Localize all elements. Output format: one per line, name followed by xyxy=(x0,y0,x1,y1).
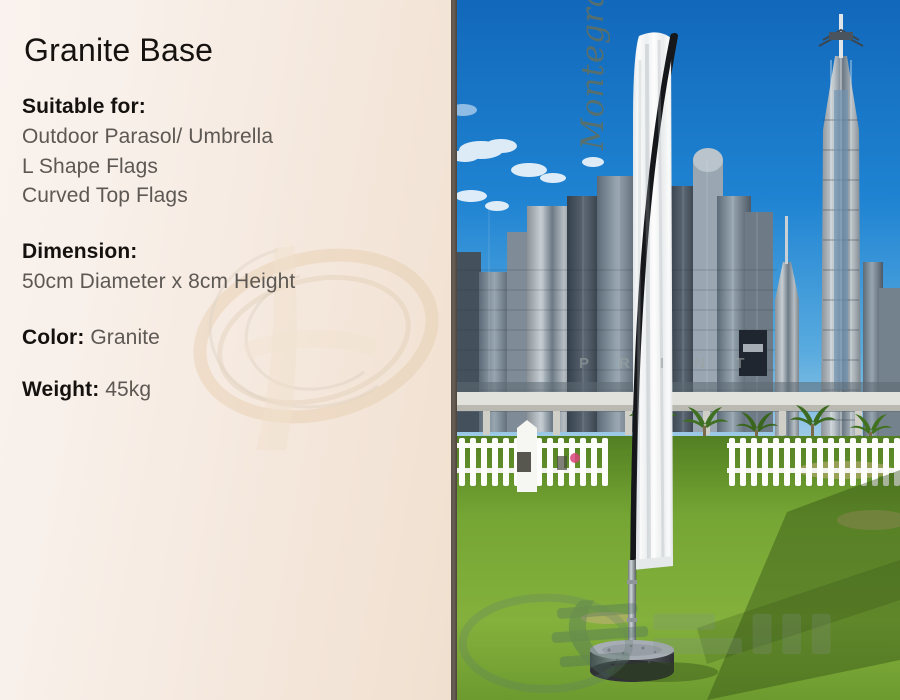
spacer xyxy=(22,215,451,237)
photo-scene xyxy=(457,0,900,700)
spec-panel: Granite Base Suitable for: Outdoor Paras… xyxy=(0,0,451,700)
spacer xyxy=(22,353,451,375)
spec-section-weight: Weight: 45kg xyxy=(22,375,451,405)
spec-value-dimension: 50cm Diameter x 8cm Height xyxy=(22,267,451,297)
product-photo: Montegrappa P R I N T xyxy=(457,0,900,700)
product-spec-card: Granite Base Suitable for: Outdoor Paras… xyxy=(0,0,900,700)
spec-value-curved-top-flags: Curved Top Flags xyxy=(22,181,451,211)
spec-value-outdoor-parasol: Outdoor Parasol/ Umbrella xyxy=(22,122,451,152)
spec-section-color: Color: Granite xyxy=(22,323,451,353)
spec-label-dimension: Dimension: xyxy=(22,237,451,267)
spec-value-weight: 45kg xyxy=(105,378,151,401)
spec-value-color: Granite xyxy=(90,326,160,349)
spec-content: Granite Base Suitable for: Outdoor Paras… xyxy=(0,0,451,405)
spec-section-suitable-for: Suitable for: Outdoor Parasol/ Umbrella … xyxy=(22,92,451,211)
spec-section-dimension: Dimension: 50cm Diameter x 8cm Height xyxy=(22,237,451,297)
spec-label-color: Color: xyxy=(22,326,84,349)
spacer xyxy=(22,301,451,323)
spec-label-suitable-for: Suitable for: xyxy=(22,92,451,122)
page-title: Granite Base xyxy=(24,34,451,66)
spec-value-l-shape-flags: L Shape Flags xyxy=(22,152,451,182)
spec-label-weight: Weight: xyxy=(22,378,99,401)
